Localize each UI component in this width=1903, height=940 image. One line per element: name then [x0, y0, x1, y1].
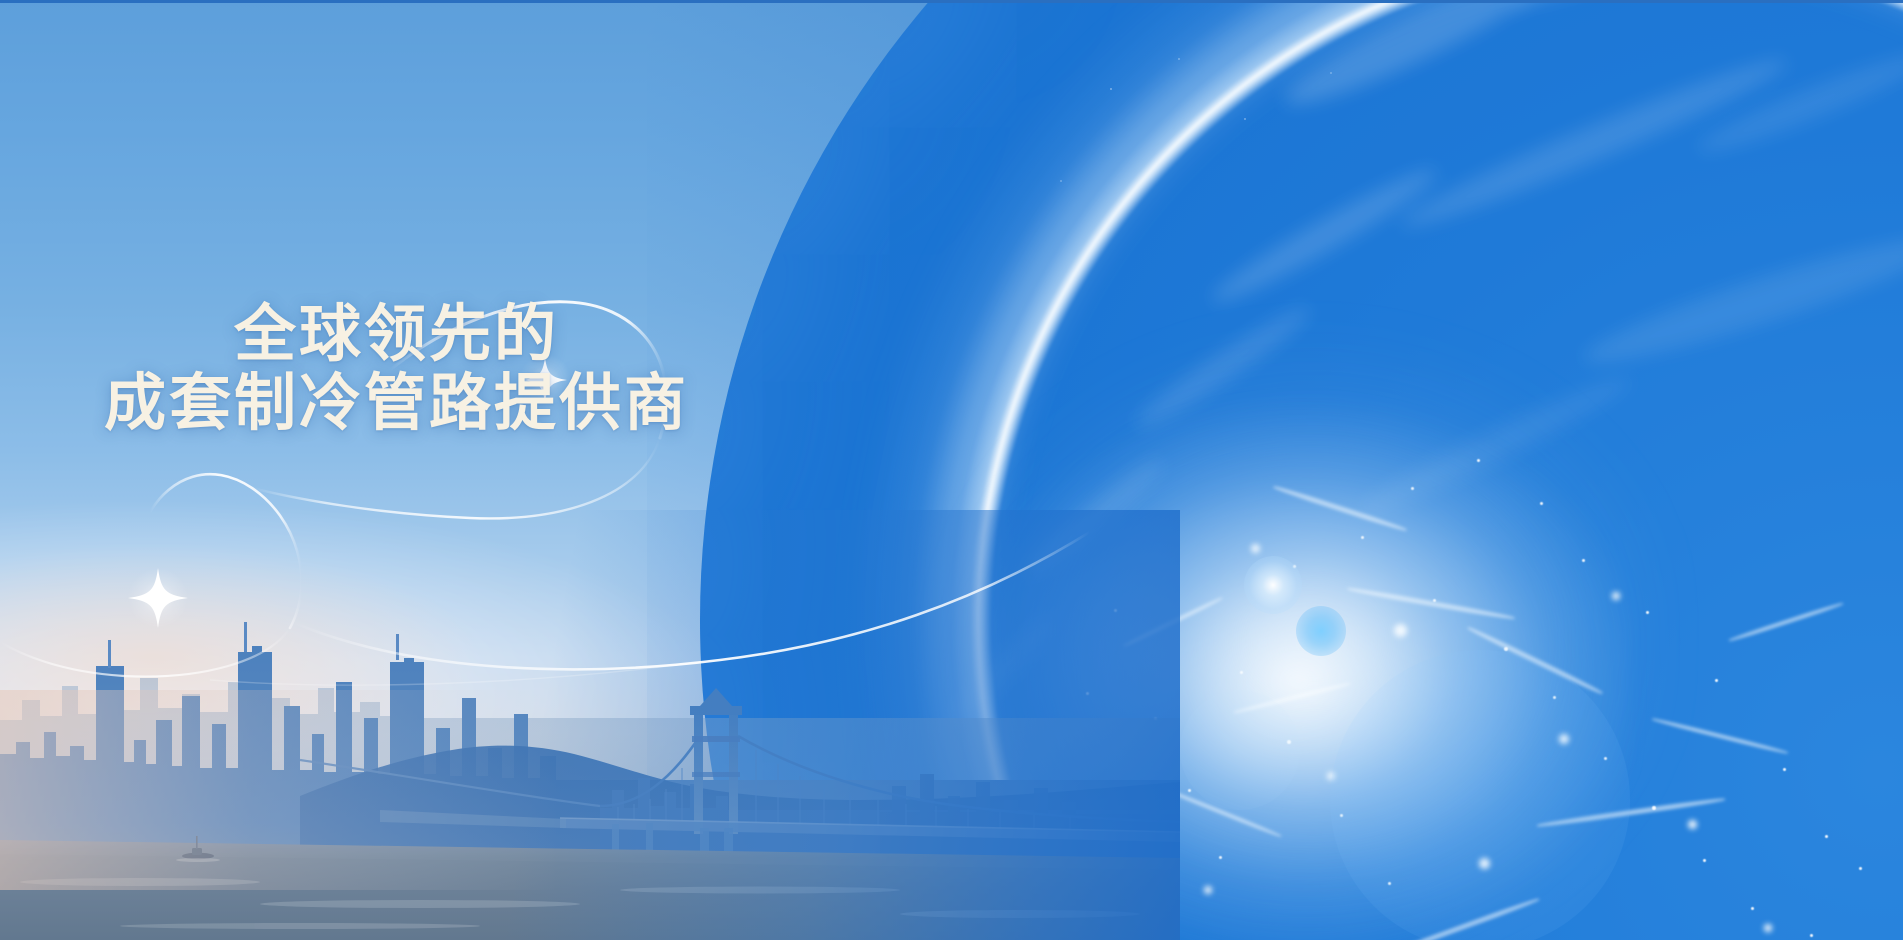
star-speck: [1178, 58, 1180, 60]
headline-line-2: 成套制冷管路提供商: [104, 369, 689, 438]
headline: 全球领先的 成套制冷管路提供商: [104, 300, 689, 439]
cityscape-foreground: [0, 510, 1180, 940]
star-speck: [1110, 88, 1112, 90]
star-speck: [1330, 72, 1332, 74]
top-edge-strip: [0, 0, 1903, 3]
hero-banner: 全球领先的 成套制冷管路提供商: [0, 0, 1903, 940]
star-speck: [1060, 180, 1062, 182]
headline-line-1: 全球领先的: [234, 300, 689, 369]
star-speck: [1244, 118, 1246, 120]
